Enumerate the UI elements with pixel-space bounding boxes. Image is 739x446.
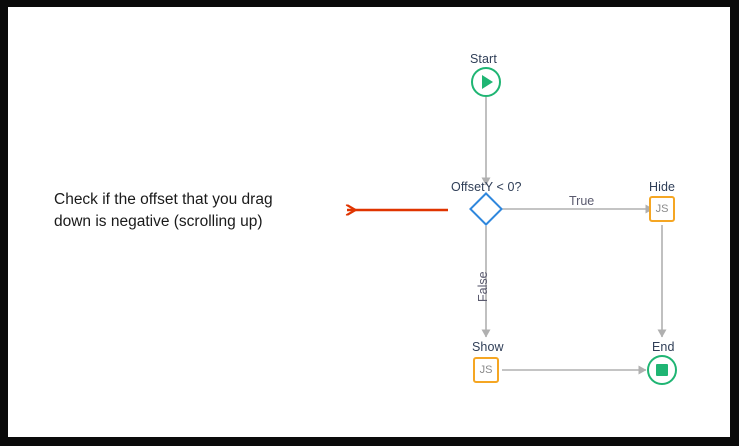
annotation-text: Check if the offset that you drag down i… xyxy=(54,189,344,234)
flowchart-canvas[interactable]: Start OffsetY < 0? True False Hide JS Sh… xyxy=(8,7,730,437)
edge-label-false: False xyxy=(476,271,490,302)
node-label-start: Start xyxy=(470,52,497,66)
node-end[interactable] xyxy=(647,355,677,385)
node-label-hide: Hide xyxy=(649,180,675,194)
edge-label-true: True xyxy=(569,194,594,208)
stop-icon xyxy=(656,364,668,376)
node-show-script[interactable]: JS xyxy=(473,357,499,383)
play-icon xyxy=(482,75,493,89)
node-start[interactable] xyxy=(471,67,501,97)
node-label-end: End xyxy=(652,340,675,354)
node-label-show: Show xyxy=(472,340,504,354)
node-hide-script[interactable]: JS xyxy=(649,196,675,222)
screenshot-frame: Start OffsetY < 0? True False Hide JS Sh… xyxy=(0,0,739,446)
